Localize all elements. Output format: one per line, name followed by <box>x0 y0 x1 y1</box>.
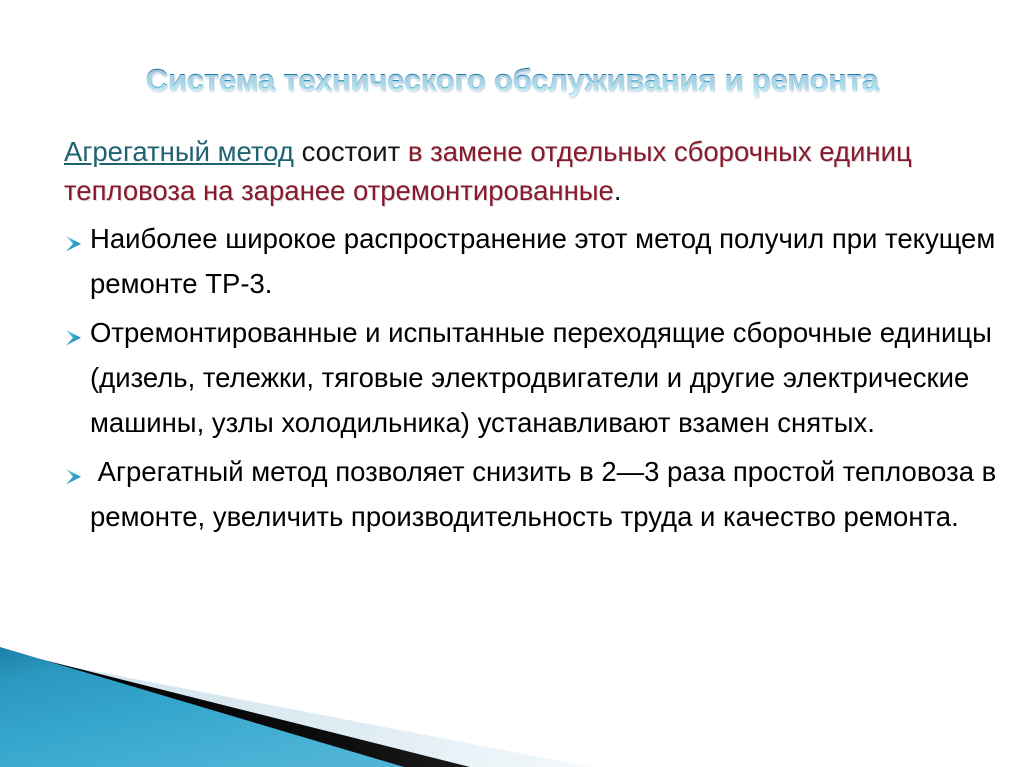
intro-middle-text: состоит <box>294 136 408 167</box>
slide-decoration-bottom <box>0 637 1024 767</box>
arrow-bullet-icon <box>62 457 86 481</box>
presentation-slide: Система технического обслуживания и ремо… <box>0 0 1024 767</box>
arrow-bullet-icon <box>62 224 86 248</box>
list-item-label: Агрегатный метод позволяет снизить в 2—3… <box>90 449 1000 539</box>
list-item-label: Отремонтированные и испытанные переходящ… <box>90 310 1000 445</box>
intro-emphasis-teal: Агрегатный метод <box>64 136 294 167</box>
list-item-label: Наиболее широкое распространение этот ме… <box>90 216 1000 306</box>
arrow-bullet-icon <box>62 318 86 342</box>
deco-band-black <box>0 649 470 767</box>
list-item: Наиболее широкое распространение этот ме… <box>0 216 1024 306</box>
deco-band-lightblue <box>0 653 592 767</box>
intro-trailing-punctuation: . <box>614 175 622 206</box>
list-item: Агрегатный метод позволяет снизить в 2—3… <box>0 449 1024 539</box>
bullet-list: Наиболее широкое распространение этот ме… <box>0 216 1024 543</box>
page-title: Система технического обслуживания и ремо… <box>0 63 1024 97</box>
list-item: Отремонтированные и испытанные переходящ… <box>0 310 1024 445</box>
deco-band-teal <box>0 647 404 767</box>
intro-paragraph: Агрегатный метод состоит в замене отдель… <box>64 132 994 210</box>
